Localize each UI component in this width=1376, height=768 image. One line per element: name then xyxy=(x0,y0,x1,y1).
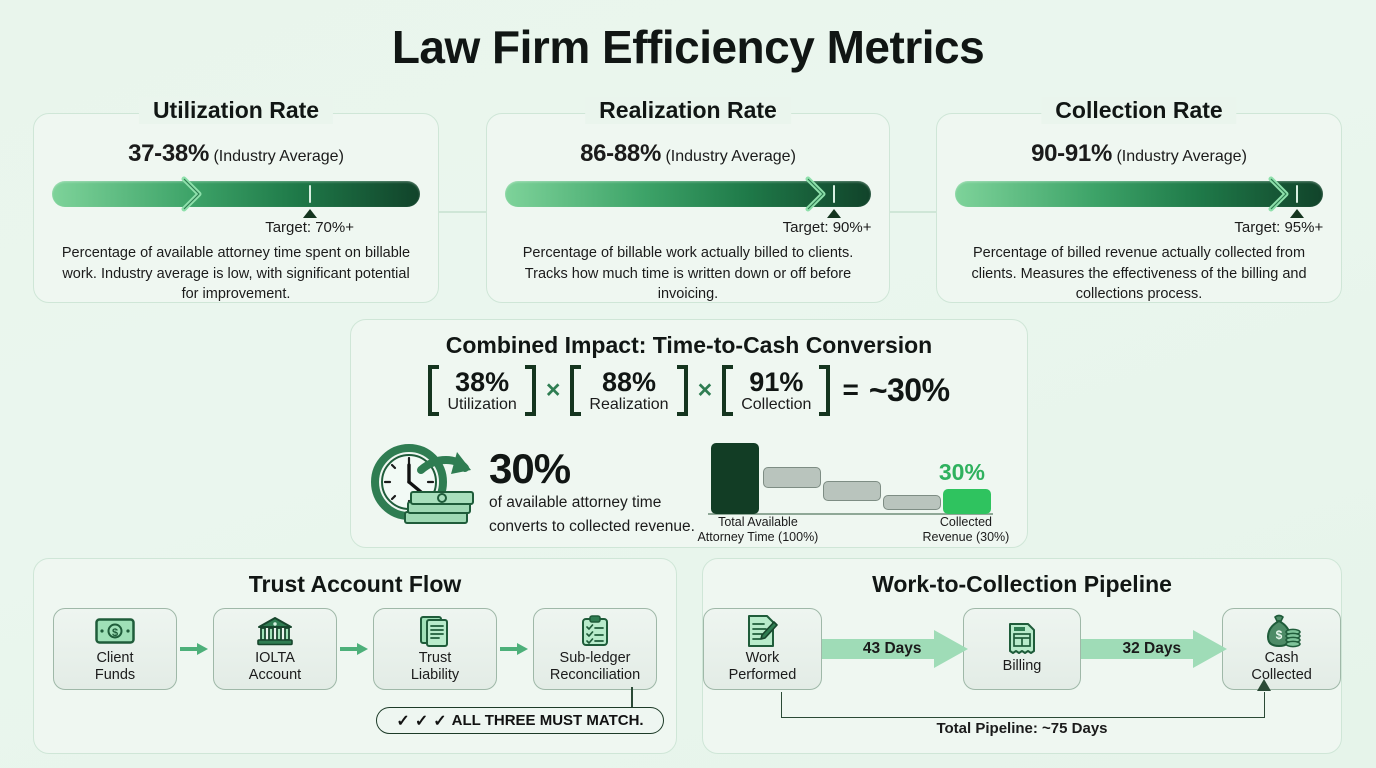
term-label: Realization xyxy=(589,396,668,414)
pipeline-title: Work-to-Collection Pipeline xyxy=(703,571,1341,598)
node-label-line1: Cash xyxy=(1251,650,1311,667)
clipboard-icon xyxy=(581,614,609,648)
total-pipeline-arrow-icon xyxy=(1257,679,1271,691)
waterfall-chart: 30% Total Available Attorney Time (100%)… xyxy=(703,438,993,546)
pipeline-node-billing[interactable]: Billing xyxy=(963,608,1082,690)
bracket-right-icon xyxy=(819,365,830,416)
document-icon xyxy=(419,614,451,648)
total-pipeline-label: Total Pipeline: ~75 Days xyxy=(703,720,1341,737)
pipeline-row: Work Performed 43 Days xyxy=(703,608,1341,690)
metric-description: Percentage of available attorney time sp… xyxy=(52,243,420,305)
target-row: Target: 95%+ xyxy=(955,209,1323,243)
equals-icon: = xyxy=(842,374,858,406)
all-three-must-match-badge: ✓ ✓ ✓ ALL THREE MUST MATCH. xyxy=(376,707,664,734)
pipeline-arrow-1: 43 Days xyxy=(822,628,963,670)
metric-description: Percentage of billed revenue actually co… xyxy=(955,243,1323,305)
metric-value: 37-38% xyxy=(128,140,209,167)
bracket-left-icon xyxy=(428,365,439,416)
combined-bottom-row: 30% of available attorney time converts … xyxy=(351,438,1027,548)
target-caret-icon xyxy=(827,209,841,218)
check-icon: ✓ xyxy=(415,711,428,731)
impact-summary: 30% of available attorney time converts … xyxy=(351,438,695,543)
clock-money-icon xyxy=(365,438,483,543)
match-connector xyxy=(631,687,633,708)
metric-title: Collection Rate xyxy=(1041,97,1236,124)
progress-chevron-icon xyxy=(1267,176,1291,212)
target-label: Target: 90%+ xyxy=(783,219,872,236)
waterfall-label-collected: Collected Revenue (30%) xyxy=(901,515,1031,546)
target-row: Target: 70%+ xyxy=(52,209,420,243)
metric-value-row: 37-38% (Industry Average) xyxy=(34,140,438,168)
target-label: Target: 95%+ xyxy=(1234,219,1323,236)
card-connector-1 xyxy=(439,211,486,213)
work-to-collection-pipeline-panel: Work-to-Collection Pipeline Work Per xyxy=(702,558,1342,754)
target-tick-icon xyxy=(309,185,311,203)
waterfall-bar-step-1 xyxy=(763,467,821,488)
progress-chevron-icon xyxy=(804,176,828,212)
waterfall-bar-total xyxy=(711,443,759,514)
metric-value-note: (Industry Average) xyxy=(213,148,343,165)
pipeline-arrow-2-label: 32 Days xyxy=(1081,628,1222,670)
metric-title: Utilization Rate xyxy=(139,97,333,124)
metric-value-note: (Industry Average) xyxy=(665,148,795,165)
node-label-line2: Performed xyxy=(729,667,797,684)
equation-result: ~30% xyxy=(869,372,950,409)
term-value: 38% xyxy=(447,368,516,396)
metric-value-row: 86-88% (Industry Average) xyxy=(487,140,889,168)
trust-account-flow-panel: Trust Account Flow $ Client Funds xyxy=(33,558,677,754)
term-value: 91% xyxy=(741,368,811,396)
match-note-label: ALL THREE MUST MATCH. xyxy=(452,712,644,729)
node-label-line1: Work xyxy=(729,650,797,667)
multiply-icon: × xyxy=(698,376,713,405)
node-label-line1: Sub-ledger xyxy=(550,650,640,667)
node-label-line1: Billing xyxy=(1003,658,1042,675)
progress-bar-realization xyxy=(505,181,871,207)
metric-value: 86-88% xyxy=(580,140,661,167)
flow-arrow-icon xyxy=(177,642,213,656)
flow-node-sub-ledger-reconciliation[interactable]: Sub-ledger Reconciliation xyxy=(533,608,657,690)
total-pipeline-connector xyxy=(781,692,1265,718)
node-label-line1: Client xyxy=(95,650,135,667)
impact-line-2: converts to collected revenue. xyxy=(489,517,695,537)
waterfall-label-total: Total Available Attorney Time (100%) xyxy=(693,515,823,546)
impact-text: 30% of available attorney time converts … xyxy=(489,444,695,536)
waterfall-bar-step-2 xyxy=(823,481,881,501)
trust-flow-title: Trust Account Flow xyxy=(34,571,676,598)
target-caret-icon xyxy=(1290,209,1304,218)
node-label-line1: Trust xyxy=(411,650,459,667)
impact-line-1: of available attorney time xyxy=(489,493,695,513)
progress-bar-collection xyxy=(955,181,1323,207)
pipeline-node-work-performed[interactable]: Work Performed xyxy=(703,608,822,690)
invoice-icon xyxy=(1008,622,1036,656)
term-label: Utilization xyxy=(447,396,516,414)
bank-icon xyxy=(257,614,293,648)
banknote-icon: $ xyxy=(95,614,135,648)
pipeline-arrow-1-label: 43 Days xyxy=(822,628,963,670)
impact-percentage: 30% xyxy=(489,448,695,490)
target-tick-icon xyxy=(1296,185,1298,203)
bracket-left-icon xyxy=(570,365,581,416)
waterfall-bar-step-3 xyxy=(883,495,941,510)
metric-card-collection: Collection Rate 90-91% (Industry Average… xyxy=(936,113,1342,303)
svg-text:$: $ xyxy=(1275,628,1282,642)
node-label-line2: Funds xyxy=(95,667,135,684)
waterfall-label-total-line2: Attorney Time (100%) xyxy=(693,530,823,546)
trust-flow-row: $ Client Funds xyxy=(34,608,676,690)
check-icon: ✓ xyxy=(433,711,446,731)
term-value: 88% xyxy=(589,368,668,396)
waterfall-label-total-line1: Total Available xyxy=(693,515,823,531)
money-bag-icon: $ xyxy=(1263,614,1301,648)
conversion-equation: 38% Utilization × 88% Realization × 91% xyxy=(351,365,1027,416)
pipeline-node-cash-collected[interactable]: $ Cash Collected xyxy=(1222,608,1341,690)
pipeline-arrow-2: 32 Days xyxy=(1081,628,1222,670)
target-row: Target: 90%+ xyxy=(505,209,871,243)
flow-arrow-icon xyxy=(337,642,373,656)
combined-impact-panel: Combined Impact: Time-to-Cash Conversion… xyxy=(350,319,1028,548)
metric-value-note: (Industry Average) xyxy=(1116,148,1246,165)
target-label: Target: 70%+ xyxy=(265,219,354,236)
term-label: Collection xyxy=(741,396,811,414)
infographic-root: Law Firm Efficiency Metrics Utilization … xyxy=(0,0,1376,768)
waterfall-label-collected-line2: Revenue (30%) xyxy=(901,530,1031,546)
flow-node-trust-liability[interactable]: Trust Liability xyxy=(373,608,497,690)
node-label-line1: IOLTA xyxy=(249,650,301,667)
node-label-line2: Reconciliation xyxy=(550,667,640,684)
metric-card-utilization: Utilization Rate 37-38% (Industry Averag… xyxy=(33,113,439,303)
progress-chevron-icon xyxy=(180,176,204,212)
equation-term-utilization: 38% Utilization xyxy=(428,365,535,416)
progress-bar-track xyxy=(52,181,420,207)
node-label-line2: Liability xyxy=(411,667,459,684)
combined-title: Combined Impact: Time-to-Cash Conversion xyxy=(351,332,1027,359)
metric-card-realization: Realization Rate 86-88% (Industry Averag… xyxy=(486,113,890,303)
svg-text:$: $ xyxy=(112,627,118,639)
target-caret-icon xyxy=(303,209,317,218)
signed-document-icon xyxy=(746,614,778,648)
bracket-right-icon xyxy=(525,365,536,416)
check-icon: ✓ xyxy=(396,711,409,731)
equation-term-realization: 88% Realization xyxy=(570,365,687,416)
waterfall-bar-collected xyxy=(943,489,991,514)
node-label-line2: Account xyxy=(249,667,301,684)
metric-description: Percentage of billable work actually bil… xyxy=(505,243,871,305)
waterfall-label-collected-line1: Collected xyxy=(901,515,1031,531)
bracket-left-icon xyxy=(722,365,733,416)
equation-term-collection: 91% Collection xyxy=(722,365,830,416)
flow-arrow-icon xyxy=(497,642,533,656)
metric-title: Realization Rate xyxy=(585,97,791,124)
page-title: Law Firm Efficiency Metrics xyxy=(0,20,1376,74)
waterfall-callout: 30% xyxy=(939,459,985,486)
metric-value-row: 90-91% (Industry Average) xyxy=(937,140,1341,168)
multiply-icon: × xyxy=(546,376,561,405)
target-tick-icon xyxy=(833,185,835,203)
flow-node-client-funds[interactable]: $ Client Funds xyxy=(53,608,177,690)
progress-bar-utilization xyxy=(52,181,420,207)
card-connector-2 xyxy=(890,211,936,213)
bracket-right-icon xyxy=(677,365,688,416)
flow-node-iolta-account[interactable]: IOLTA Account xyxy=(213,608,337,690)
metric-value: 90-91% xyxy=(1031,140,1112,167)
